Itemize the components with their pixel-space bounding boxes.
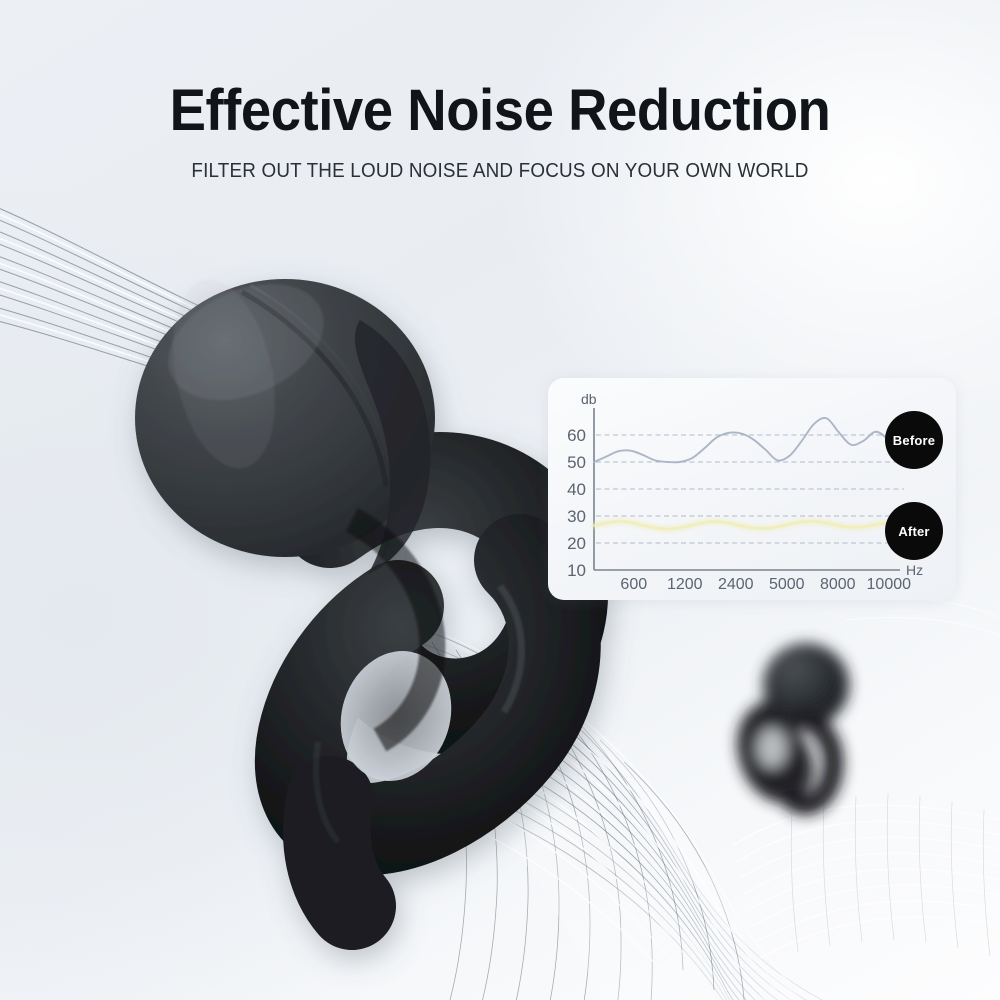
earbud-hook-tail	[327, 800, 352, 906]
x-tick-1200: 1200	[667, 576, 703, 593]
chart-x-ticks: 600120024005000800010000	[620, 576, 911, 593]
series-before	[594, 418, 900, 462]
x-tick-10000: 10000	[867, 576, 912, 593]
y-tick-40: 40	[567, 480, 586, 499]
before-badge[interactable]: Before	[885, 411, 943, 469]
page-subtitle: FILTER OUT THE LOUD NOISE AND FOCUS ON Y…	[40, 159, 960, 183]
promo-banner: Effective Noise Reduction FILTER OUT THE…	[0, 0, 1000, 1000]
noise-reduction-chart-card: db Hz 605040302010 600120024005000800010…	[548, 378, 956, 600]
x-tick-2400: 2400	[718, 576, 754, 593]
after-badge[interactable]: After	[885, 502, 943, 560]
x-tick-600: 600	[620, 576, 647, 593]
headings-block: Effective Noise Reduction FILTER OUT THE…	[0, 82, 1000, 183]
y-tick-30: 30	[567, 507, 586, 526]
x-tick-5000: 5000	[769, 576, 805, 593]
page-title: Effective Noise Reduction	[30, 82, 970, 140]
y-tick-20: 20	[567, 534, 586, 553]
after-badge-label: After	[898, 524, 929, 539]
y-tick-60: 60	[567, 426, 586, 445]
chart-y-ticks: 605040302010	[567, 426, 586, 580]
x-tick-8000: 8000	[820, 576, 856, 593]
y-tick-10: 10	[567, 561, 586, 580]
before-badge-label: Before	[893, 433, 935, 448]
y-axis-label: db	[581, 391, 597, 407]
noise-reduction-chart: db Hz 605040302010 600120024005000800010…	[548, 378, 956, 600]
y-tick-50: 50	[567, 453, 586, 472]
